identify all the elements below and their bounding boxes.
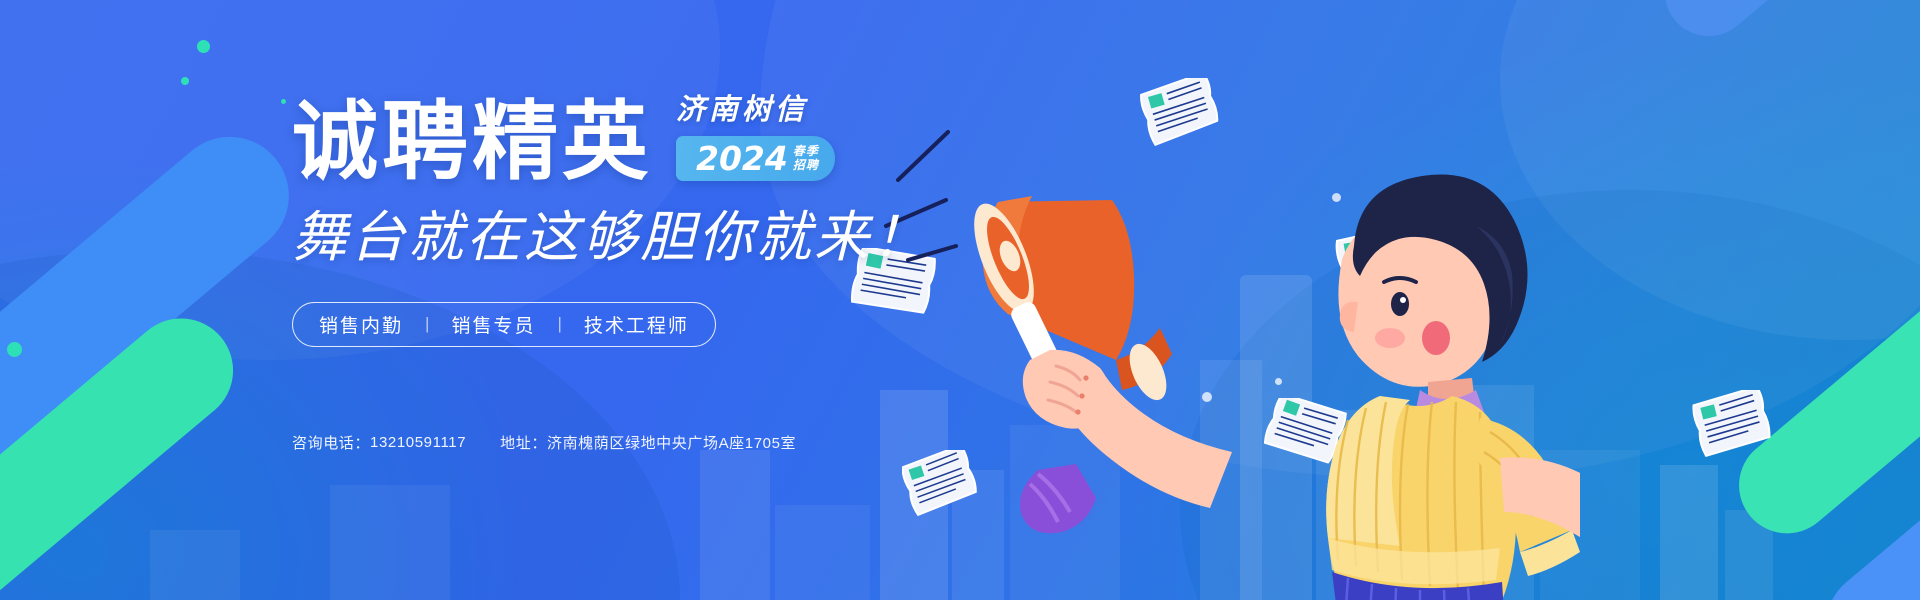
banner-content: 诚聘精英 济南树信 2024 春季 招聘 舞台就在这够胆你就来！ 销售内勤 | … bbox=[292, 96, 1112, 453]
badge-season-line2: 招聘 bbox=[793, 159, 819, 172]
badge-year: 2024 bbox=[696, 142, 788, 175]
subtitle: 舞台就在这够胆你就来！ bbox=[292, 207, 1112, 268]
headline-row: 诚聘精英 济南树信 2024 春季 招聘 bbox=[292, 96, 1112, 185]
brand-badge-group: 济南树信 2024 春季 招聘 bbox=[676, 96, 835, 185]
address-label: 地址： bbox=[500, 432, 547, 453]
resume-paper-icon bbox=[1692, 390, 1778, 464]
decorative-dot bbox=[181, 77, 189, 85]
job-role-3[interactable]: 技术工程师 bbox=[584, 311, 689, 338]
phone-label: 咨询电话： bbox=[292, 432, 370, 453]
decorative-dot bbox=[7, 342, 22, 357]
role-separator: | bbox=[425, 314, 429, 334]
address-value: 济南槐荫区绿地中央广场A座1705室 bbox=[547, 432, 796, 453]
role-separator: | bbox=[557, 314, 561, 334]
job-roles-pill[interactable]: 销售内勤 | 销售专员 | 技术工程师 bbox=[292, 302, 716, 347]
recruitment-banner: 诚聘精英 济南树信 2024 春季 招聘 舞台就在这够胆你就来！ 销售内勤 | … bbox=[0, 0, 1920, 600]
badge-season-line1: 春季 bbox=[793, 145, 819, 158]
recruitment-badge: 2024 春季 招聘 bbox=[676, 136, 835, 181]
badge-season: 春季 招聘 bbox=[793, 145, 819, 172]
decorative-dot bbox=[281, 99, 286, 104]
company-name: 济南树信 bbox=[676, 96, 835, 125]
open-mouth bbox=[1422, 321, 1450, 355]
job-role-1[interactable]: 销售内勤 bbox=[319, 311, 403, 338]
page-title: 诚聘精英 bbox=[292, 99, 652, 185]
eye bbox=[1391, 292, 1409, 316]
decorative-dot bbox=[197, 40, 210, 53]
blush bbox=[1375, 328, 1405, 348]
decorative-bar bbox=[1647, 0, 1920, 54]
shoe-back bbox=[1020, 464, 1096, 533]
job-role-2[interactable]: 销售专员 bbox=[451, 311, 535, 338]
character-head bbox=[1338, 174, 1527, 416]
phone-value: 13210591117 bbox=[370, 434, 466, 451]
contact-info: 咨询电话： 13210591117 地址： 济南槐荫区绿地中央广场A座1705室 bbox=[292, 432, 1112, 453]
